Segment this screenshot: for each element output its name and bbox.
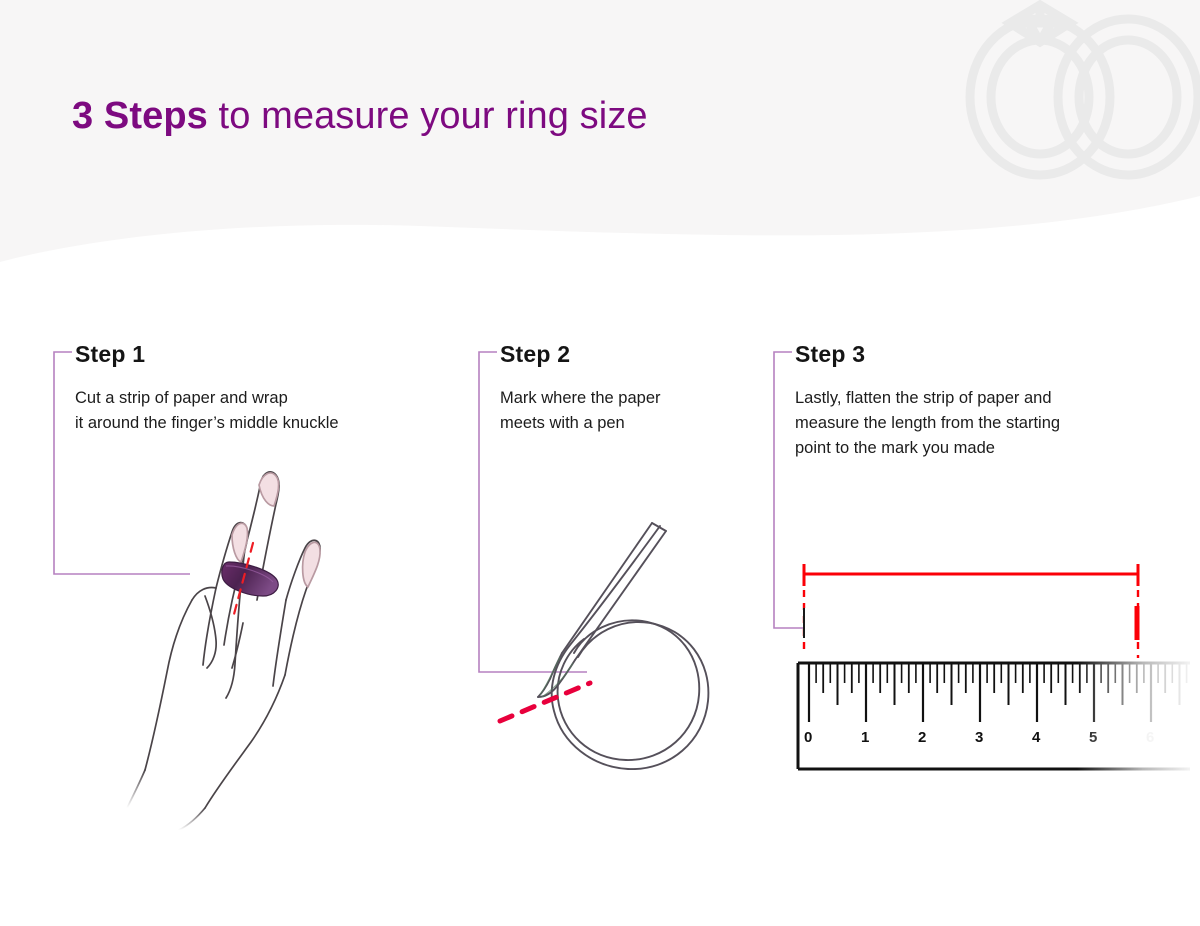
ruler-major-ticks (809, 664, 1151, 722)
step-1-body: Cut a strip of paper and wrap it around … (75, 386, 339, 436)
page-title-strong: 3 Steps (72, 95, 208, 137)
step-2-body-line-2: meets with a pen (500, 411, 661, 436)
ruler-label-5: 5 (1089, 729, 1097, 746)
step-2-heading: Step 2 (500, 341, 570, 368)
step-3-heading: Step 3 (795, 341, 865, 368)
paper-strip-on-finger (222, 562, 278, 596)
step-3-body-line-3: point to the mark you made (795, 436, 1060, 461)
step-3-body: Lastly, flatten the strip of paper and m… (795, 386, 1060, 461)
step-2-body-line-1: Mark where the paper (500, 386, 661, 411)
ruler-illustration: 0 1 2 3 4 5 6 (790, 550, 1200, 785)
ruler-labels: 0 1 2 3 4 5 6 (804, 729, 1154, 746)
page-title: 3 Steps to measure your ring size (72, 93, 648, 141)
ruler-quarter-ticks (823, 664, 1165, 693)
ruler: 0 1 2 3 4 5 6 (798, 663, 1190, 769)
step-1-body-line-2: it around the finger’s middle knuckle (75, 411, 339, 436)
step-1-heading: Step 1 (75, 341, 145, 368)
step-1-body-line-1: Cut a strip of paper and wrap (75, 386, 339, 411)
ring-size-guide-page: 3 Steps to measure your ring size Step 1… (0, 0, 1200, 926)
measurement-bar (804, 564, 1138, 586)
ruler-label-1: 1 (861, 729, 869, 746)
hand-illustration (95, 440, 435, 835)
page-title-rest: to measure your ring size (208, 95, 648, 137)
ruler-eighth-ticks (816, 664, 1187, 683)
ruler-label-6: 6 (1146, 729, 1154, 746)
ruler-half-ticks (838, 664, 1180, 705)
ruler-label-2: 2 (918, 729, 926, 746)
step-3-body-line-1: Lastly, flatten the strip of paper and (795, 386, 1060, 411)
ruler-label-4: 4 (1032, 729, 1041, 746)
ruler-label-0: 0 (804, 729, 812, 746)
step-2-body: Mark where the paper meets with a pen (500, 386, 661, 436)
flat-paper-strip (804, 608, 1190, 638)
step-3-body-line-2: measure the length from the starting (795, 411, 1060, 436)
coiled-strip-illustration (480, 505, 770, 810)
ruler-label-3: 3 (975, 729, 983, 746)
